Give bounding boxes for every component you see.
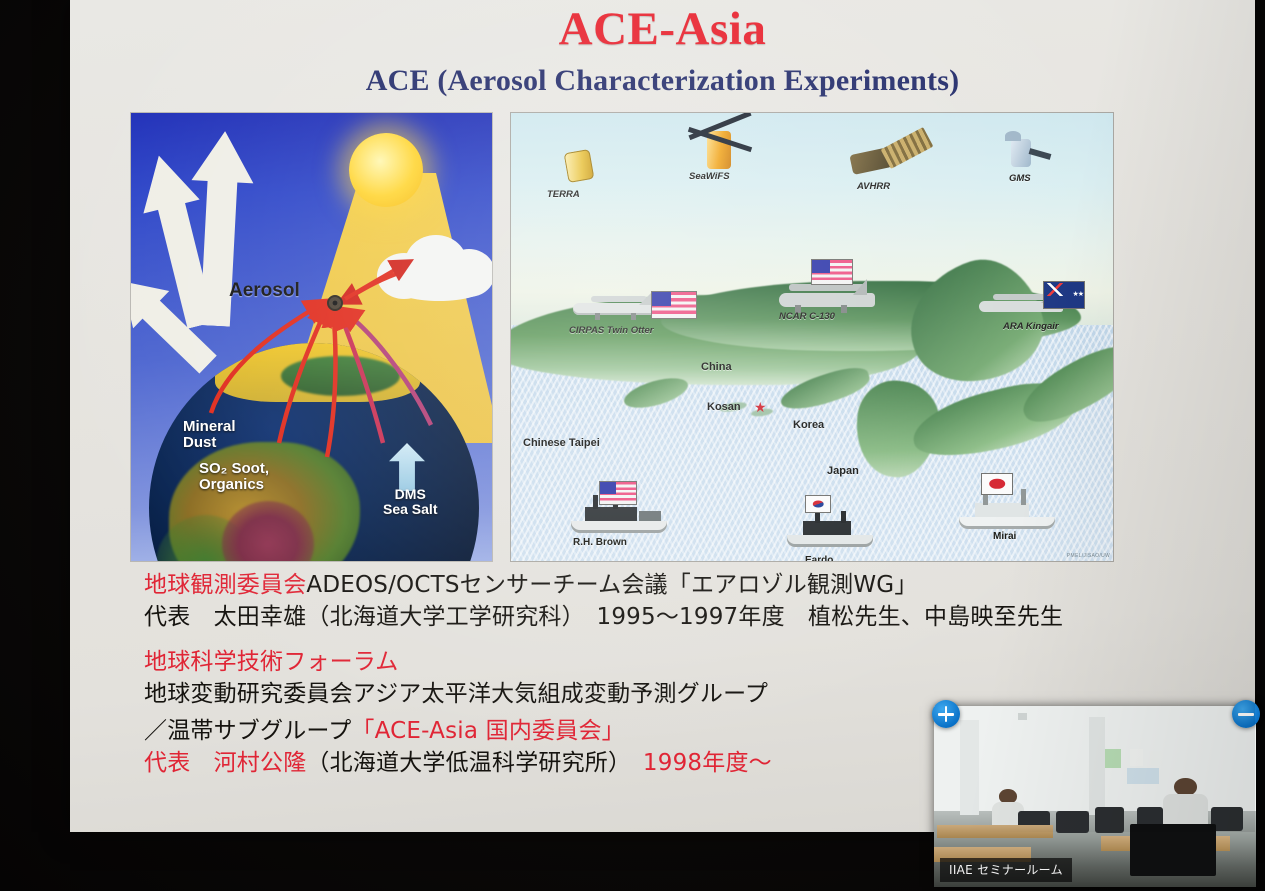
terra-label: TERRA <box>547 189 580 200</box>
body-line-6-red-a: 代表 河村公隆 <box>144 750 306 776</box>
gms-array-icon <box>1029 148 1052 160</box>
map-label-japan: Japan <box>827 465 859 477</box>
kosan-site-marker-icon: ★ <box>754 400 768 414</box>
avhrr-label: AVHRR <box>857 181 890 192</box>
terra-satellite-icon <box>564 149 595 183</box>
gms-label: GMS <box>1009 173 1031 184</box>
mirai-label: Mirai <box>993 531 1016 542</box>
body-line-1-red: 地球観測委員会 <box>144 572 306 598</box>
ncar-c130-label: NCAR C-130 <box>779 311 835 322</box>
slide-subtitle: ACE (Aerosol Characterization Experiment… <box>70 64 1255 98</box>
mirai-japan-flag-icon <box>981 473 1013 495</box>
rh-brown-us-flag-icon <box>599 481 637 505</box>
cirpas-us-flag-icon <box>651 291 697 319</box>
video-overlay-caption: IIAE セミナールーム <box>940 858 1072 882</box>
slide-title: ACE-Asia <box>70 2 1255 56</box>
label-aerosol: Aerosol <box>229 281 300 301</box>
laptop-icon <box>1130 824 1216 876</box>
eardo-korea-flag-icon <box>805 495 831 513</box>
cloud-icon <box>371 231 493 303</box>
map-label-chinese-taipei: Chinese Taipei <box>523 437 600 449</box>
body-line-6-black: （北海道大学低温科学研究所） <box>306 750 619 776</box>
body-line-5-black: ／温帯サブグループ <box>144 718 351 744</box>
participant-right <box>1163 778 1208 829</box>
ncar-us-flag-icon <box>811 259 853 285</box>
body-line-6-red-b: 1998年度～ <box>620 750 772 776</box>
body-line-1-rest: ADEOS/OCTSセンサーチーム会議「エアロゾル観測WG」 <box>306 572 917 598</box>
zoom-in-button[interactable]: + <box>932 700 960 728</box>
video-overlay-panel[interactable]: IIAE セミナールーム <box>934 706 1256 887</box>
ara-australia-flag-icon <box>1043 281 1085 309</box>
aerosol-schematic-image: Aerosol Mineral Dust SO₂ Soot, Organics … <box>130 112 493 562</box>
gms-antenna-icon <box>1005 131 1021 141</box>
map-label-kosan: Kosan <box>707 401 741 413</box>
observation-platforms-image: TERRA SeaWiFS AVHRR GMS CIRPAS Twin Otte… <box>510 112 1114 562</box>
screenshot-root: ACE-Asia ACE (Aerosol Characterization E… <box>0 0 1265 891</box>
seawifs-label: SeaWiFS <box>689 171 730 182</box>
label-mineral-dust: Mineral Dust <box>183 419 236 451</box>
cirpas-twin-otter-label: CIRPAS Twin Otter <box>569 325 653 336</box>
sun-icon <box>349 133 423 207</box>
image-credit: PMEL/JISAO/UW <box>1067 553 1110 559</box>
eardo-label: Eardo <box>805 555 833 562</box>
zoom-out-button[interactable]: − <box>1232 700 1260 728</box>
label-so2-soot-organics: SO₂ Soot, Organics <box>199 461 269 493</box>
label-dms-sea-salt: DMS Sea Salt <box>383 487 437 516</box>
ara-kingair-label: ARA Kingair <box>1003 321 1059 332</box>
map-label-china: China <box>701 361 732 373</box>
body-line-1: 地球観測委員会ADEOS/OCTSセンサーチーム会議「エアロゾル観測WG」 <box>144 570 1234 602</box>
body-line-5-red: 「ACE-Asia 国内委員会」 <box>351 718 624 744</box>
avhrr-solar-array-icon <box>881 127 934 169</box>
map-label-korea: Korea <box>793 419 824 431</box>
body-line-3: 地球科学技術フォーラム <box>144 647 1234 679</box>
body-line-2: 代表 太田幸雄（北海道大学工学研究科） 1995～1997年度 植松先生、中島映… <box>144 602 1234 634</box>
rh-brown-label: R.H. Brown <box>573 537 627 548</box>
